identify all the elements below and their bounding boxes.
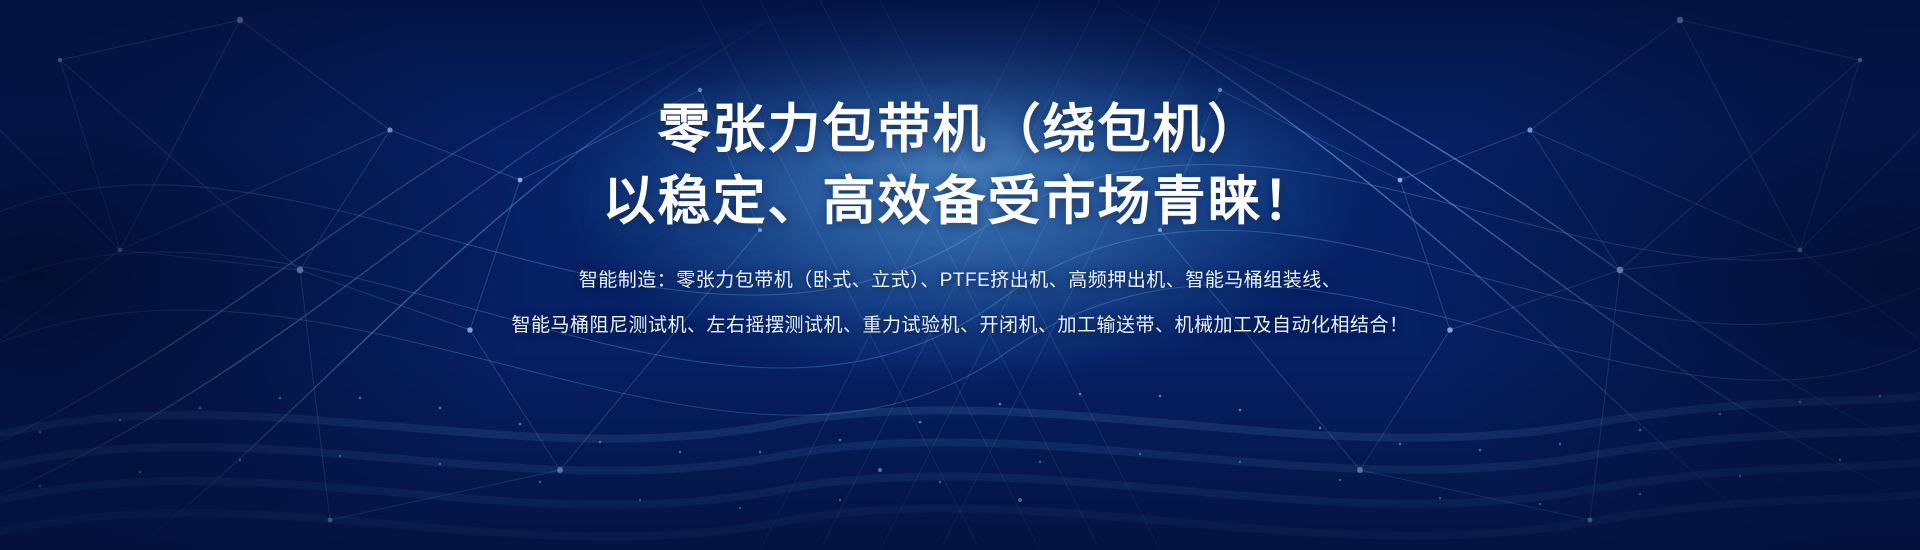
banner-subtitle-line-1: 智能制造：零张力包带机（卧式、立式）、PTFE挤出机、高频押出机、智能马桶组装线… (579, 266, 1342, 295)
banner-content: 零张力包带机（绕包机） 以稳定、高效备受市场青睐！ 智能制造：零张力包带机（卧式… (0, 0, 1920, 550)
banner-title-line-1: 零张力包带机（绕包机） (658, 96, 1263, 164)
hero-banner: 零张力包带机（绕包机） 以稳定、高效备受市场青睐！ 智能制造：零张力包带机（卧式… (0, 0, 1920, 550)
banner-subtitle-line-2: 智能马桶阻尼测试机、左右摇摆测试机、重力试验机、开闭机、加工输送带、机械加工及自… (511, 311, 1408, 340)
banner-title-line-2: 以稳定、高效备受市场青睐！ (603, 168, 1318, 236)
